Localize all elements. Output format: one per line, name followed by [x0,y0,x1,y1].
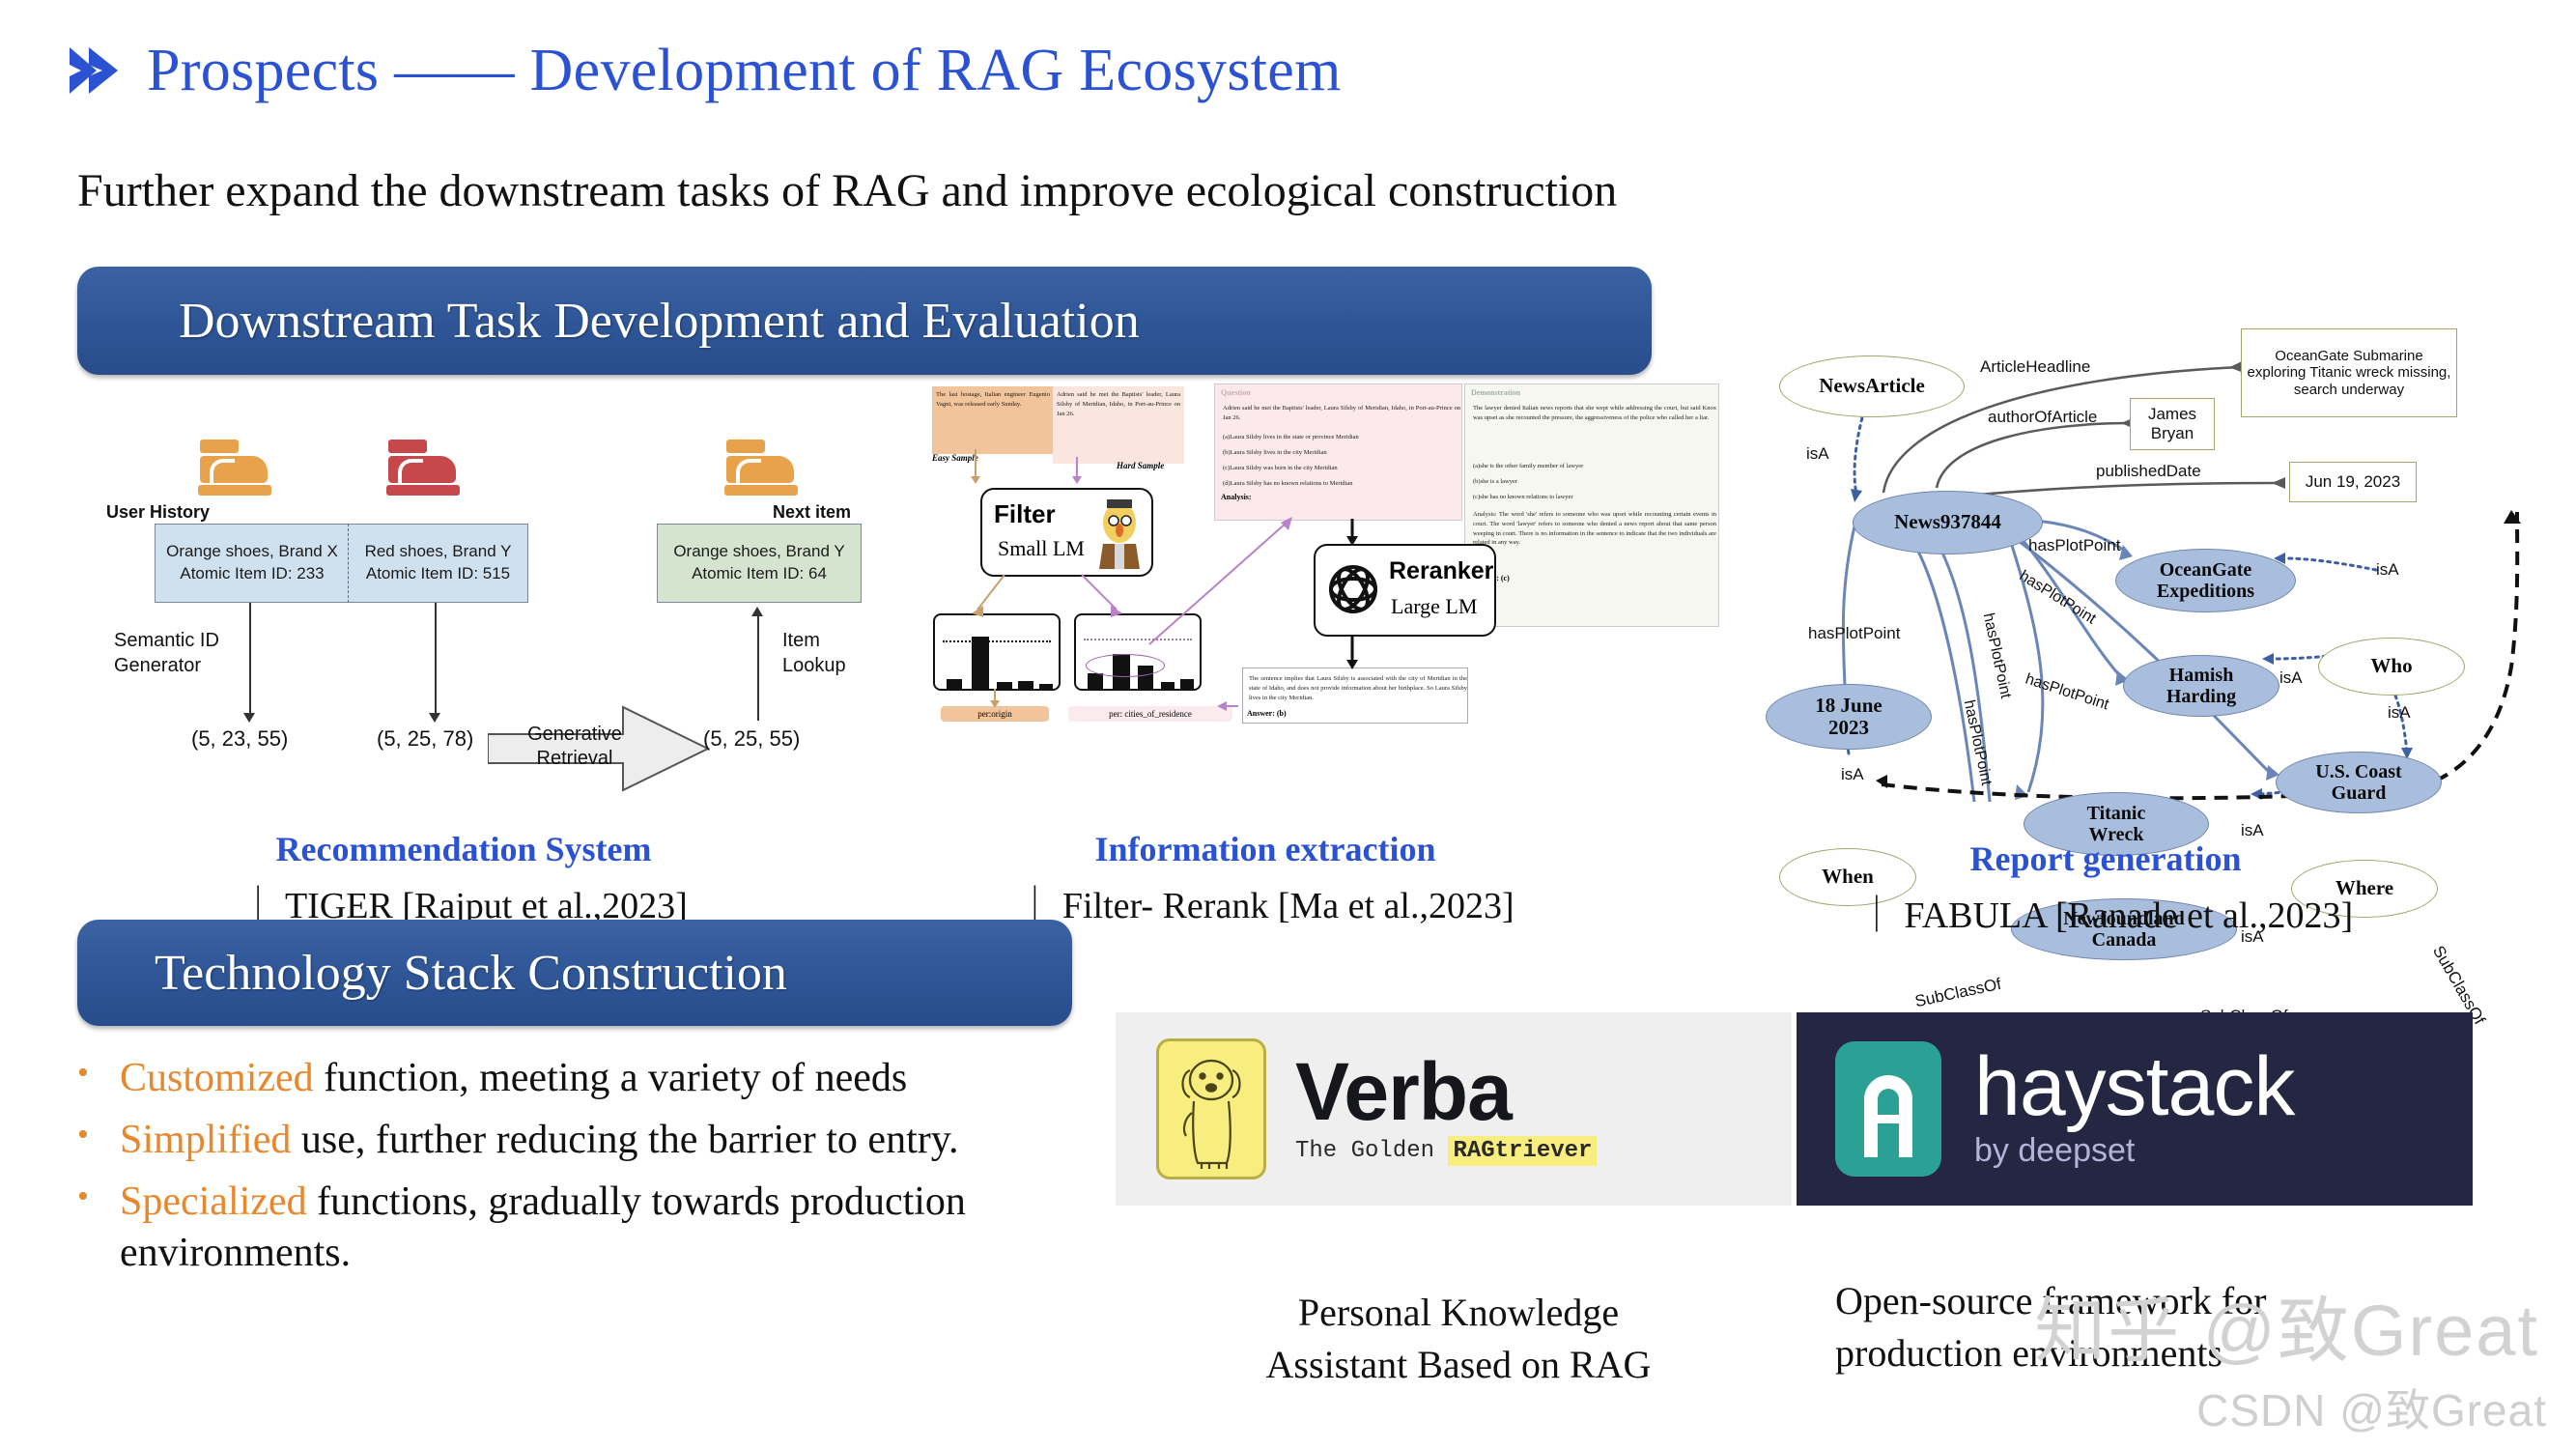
semantic-id-line1: Semantic ID [114,628,219,653]
bullet-lead-2: Simplified [120,1118,291,1162]
tag-per-origin: per:origin [941,706,1049,722]
bullet-text-2: Simplified use, further reducing the bar… [120,1115,959,1167]
demonstration-analysis: Analysis: The word 'she' refers to someo… [1469,506,1720,552]
question-header: Question [1221,388,1251,397]
history-item-2: Red shoes, Brand Y Atomic Item ID: 515 [348,524,528,603]
history-item-2-line1: Red shoes, Brand Y [365,541,512,563]
bullet-lead-3: Specialized [120,1179,307,1224]
next-item-label: Next item [773,502,851,523]
bullet-list: • Customized function, meeting a variety… [77,1053,1101,1290]
semantic-code-next: (5, 25, 55) [703,726,800,752]
openai-logo-icon [1323,559,1383,619]
figure-tiger-recommendation: User History Next item Orange shoes, Bra… [106,386,879,792]
next-item-box: Orange shoes, Brand Y Atomic Item ID: 64 [657,524,862,603]
caption-report-generation: Report generation ｜ FABULA [Ranade et al… [1768,838,2444,938]
kg-edge-published-date: publishedDate [2096,462,2201,481]
bullet-lead-1: Customized [120,1056,314,1100]
haystack-wordmark-wrap: haystack by deepset [1974,1048,2294,1171]
verba-tagline: The Golden RAGtriever [1295,1138,1597,1164]
question-analysis-label: Analysis: [1221,493,1252,501]
verba-caption-line2: Assistant Based on RAG [1159,1339,1758,1391]
history-item-1: Orange shoes, Brand X Atomic Item ID: 23… [155,524,349,603]
verba-tagline-plain: The Golden [1295,1138,1448,1164]
boot-icon-orange-1 [198,440,273,497]
arrow-head-item-lookup [751,607,763,616]
demonstration-panel: Demonstration The lawyer denied Italian … [1464,384,1719,627]
kg-node-hamish-harding: HamishHarding [2123,655,2279,717]
slide-subtitle: Further expand the downstream tasks of R… [77,164,2395,217]
banner-technology-stack: Technology Stack Construction [77,920,1072,1026]
figure-fabula-knowledge-graph: NewsArticle News937844 OceanGateExpediti… [1739,319,2576,802]
banner-techstack-label: Technology Stack Construction [155,945,787,1002]
caption-report-generation-title: Report generation [1768,838,2444,879]
kg-edge-article-headline: ArticleHeadline [1980,357,2090,377]
history-item-1-line2: Atomic Item ID: 233 [180,563,324,585]
histogram-hard [1074,613,1202,691]
item-lookup-line2: Lookup [782,653,846,678]
next-item-line1: Orange shoes, Brand Y [673,541,844,563]
arrow-line-item-lookup [757,614,759,721]
generative-line1: Generative [512,723,637,747]
kg-edge-isa-7: isA [1841,765,1864,784]
bullet-dot-1: • [77,1053,120,1094]
question-option-d: (d)Laura Silsby has no known relations t… [1219,475,1464,493]
verba-caption: Personal Knowledge Assistant Based on RA… [1159,1287,1758,1391]
filter-box: Filter Small LM [980,488,1153,577]
demonstration-option-c: (c)she has no known relations to lawyer [1469,489,1720,506]
kg-node-oceangate: OceanGateExpeditions [2115,549,2296,612]
kg-edge-isa-5: isA [2241,821,2264,840]
kg-node-newsarticle: NewsArticle [1779,355,1965,417]
bullet-rest-1: function, meeting a variety of needs [314,1056,908,1100]
bullet-text-3: Specialized functions, gradually towards… [120,1177,1101,1281]
figure-filter-rerank: The last hostage, Italian engineer Eugen… [927,382,1468,787]
double-triangle-arrow-icon [68,43,122,98]
question-body: Adrien said he met the Baptists' leader,… [1219,400,1464,427]
bullet-dot-3: • [77,1177,120,1218]
banner-downstream-label: Downstream Task Development and Evaluati… [179,293,1140,350]
filter-sub: Small LM [998,536,1085,561]
boot-icon-red [386,440,462,497]
bullet-text-1: Customized function, meeting a variety o… [120,1053,907,1105]
caption-information-extraction: Information extraction ｜ Filter- Rerank … [976,829,1555,928]
tag-per-cities: per: cities_of_residence [1068,706,1232,722]
kg-edge-subclassof-1: SubClassOf [1913,975,2003,1011]
caption-report-generation-source: ｜ FABULA [Ranade et al.,2023] [1768,885,2444,938]
reranker-title: Reranker [1389,557,1493,585]
demonstration-body: The lawyer denied Italian news reports t… [1469,400,1720,427]
banner-downstream-task: Downstream Task Development and Evaluati… [77,267,1652,375]
bullet-item-specialized: • Specialized functions, gradually towar… [77,1177,1101,1281]
reranker-output-box: The sentence implies that Laura Silsby i… [1242,668,1468,724]
history-item-2-line2: Atomic Item ID: 515 [366,563,510,585]
haystack-arch-icon [1835,1041,1941,1177]
semantic-code-2: (5, 25, 78) [377,726,473,752]
demonstration-header: Demonstration [1471,388,1520,397]
bert-mascot-icon [1093,497,1146,571]
page-title: Prospects —— Development of RAG Ecosyste… [147,41,1342,100]
bullet-dot-2: • [77,1115,120,1156]
easy-sample-text: The last hostage, Italian engineer Eugen… [932,386,1054,454]
kg-edge-isa-4: isA [2388,703,2411,723]
generative-retrieval-label: Generative Retrieval [512,723,637,771]
arrows-to-filter [966,447,1140,486]
kg-edge-hasplotpoint-2: hasPlotPoint [2028,536,2120,555]
caption-recommendation-title: Recommendation System [164,829,763,869]
question-panel: Question Adrien said he met the Baptists… [1214,384,1462,521]
bullet-item-customized: • Customized function, meeting a variety… [77,1053,1101,1105]
kg-rect-date: Jun 19, 2023 [2289,462,2417,502]
haystack-subtitle: by deepset [1974,1132,2294,1170]
kg-rect-headline: OceanGate Submarine exploring Titanic wr… [2241,328,2457,417]
kg-edge-isa-1: isA [1806,444,1829,464]
histogram-easy [933,613,1061,691]
semantic-id-generator-label: Semantic ID Generator [114,628,219,678]
kg-node-who: Who [2318,638,2465,696]
semantic-code-1: (5, 23, 55) [191,726,288,752]
generative-line2: Retrieval [512,747,637,771]
watermark-csdn: CSDN @致Great [2196,1376,2547,1439]
caption-information-extraction-source: ｜ Filter- Rerank [Ma et al.,2023] [976,875,1555,928]
arrow-line-semantic-1 [249,603,251,715]
kg-edge-hasplotpoint-1: hasPlotPoint [1808,624,1900,643]
next-item-line2: Atomic Item ID: 64 [692,563,827,585]
item-lookup-label: Item Lookup [782,628,846,678]
kg-node-us-coast-guard: U.S. CoastGuard [2276,752,2442,813]
golden-retriever-dog-icon [1156,1038,1266,1179]
bullet-item-simplified: • Simplified use, further reducing the b… [77,1115,1101,1167]
history-item-1-line1: Orange shoes, Brand X [166,541,338,563]
watermark-zhihu: 知乎 @致Great [2034,1273,2539,1377]
reranker-box: Reranker Large LM [1314,544,1496,637]
kg-node-18-june-2023: 18 June2023 [1766,684,1932,750]
bullet-rest-2: use, further reducing the barrier to ent… [291,1118,958,1162]
user-history-label: User History [106,502,210,523]
arrow-head-semantic-1 [243,713,255,723]
kg-edge-author-of-article: authorOfArticle [1988,408,2097,427]
kg-edge-isa-2: isA [2376,560,2399,580]
item-lookup-line1: Item [782,628,846,653]
arrow-head-semantic-2 [429,713,440,723]
kg-node-news937844: News937844 [1853,491,2043,554]
verba-logo-panel: Verba The Golden RAGtriever [1116,1012,1792,1206]
reranker-sub: Large LM [1391,594,1477,619]
caption-information-extraction-title: Information extraction [976,829,1555,869]
arrow-line-semantic-2 [435,603,437,715]
verba-caption-line1: Personal Knowledge [1159,1287,1758,1339]
kg-rect-author: James Bryan [2130,398,2215,450]
filter-title: Filter [994,499,1056,529]
caption-recommendation: Recommendation System ｜ TIGER [Rajput et… [164,829,763,928]
kg-edge-isa-3: isA [2279,668,2303,688]
verba-tagline-highlight: RAGtriever [1448,1136,1597,1166]
reranker-output-text: The sentence implies that Laura Silsby i… [1245,670,1471,706]
slide-title-row: Prospects —— Development of RAG Ecosyste… [68,27,2193,114]
semantic-id-line2: Generator [114,653,219,678]
verba-wordmark: Verba [1295,1054,1597,1131]
verba-wordmark-wrap: Verba The Golden RAGtriever [1295,1054,1597,1165]
haystack-wordmark: haystack [1974,1048,2294,1127]
reranker-output-answer: Answer: (b) [1247,709,1287,718]
boot-icon-orange-2 [724,440,800,497]
haystack-logo-panel: haystack by deepset [1797,1012,2473,1206]
